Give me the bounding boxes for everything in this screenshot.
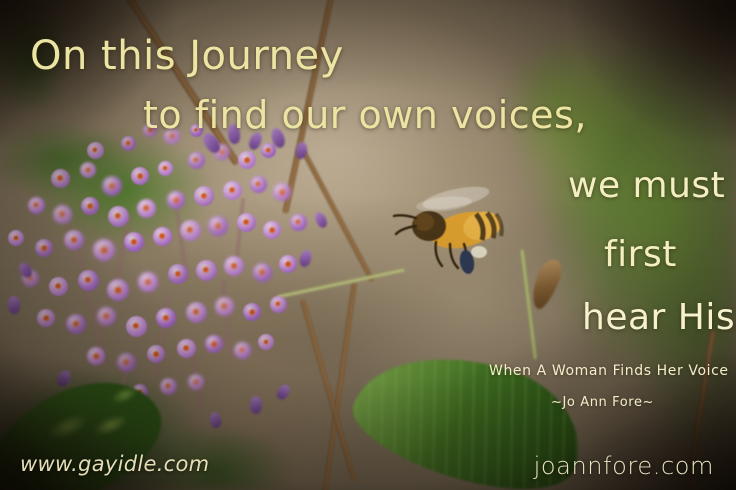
- quote-image: On this Journey to find our own voices, …: [0, 0, 736, 490]
- quote-line-5: hear His.: [582, 300, 736, 336]
- book-title: When A Woman Finds Her Voice: [489, 363, 729, 379]
- watermark-right-url[interactable]: joannfore.com: [534, 452, 714, 480]
- quote-line-1: On this Journey: [30, 36, 344, 76]
- quote-line-2: to find our own voices,: [143, 96, 587, 134]
- quote-line-4: first: [604, 237, 677, 273]
- watermark-left-url[interactable]: www.gayidle.com: [20, 452, 209, 476]
- quote-line-3: we must: [568, 168, 725, 204]
- author-credit: ~Jo Ann Fore~: [551, 395, 654, 410]
